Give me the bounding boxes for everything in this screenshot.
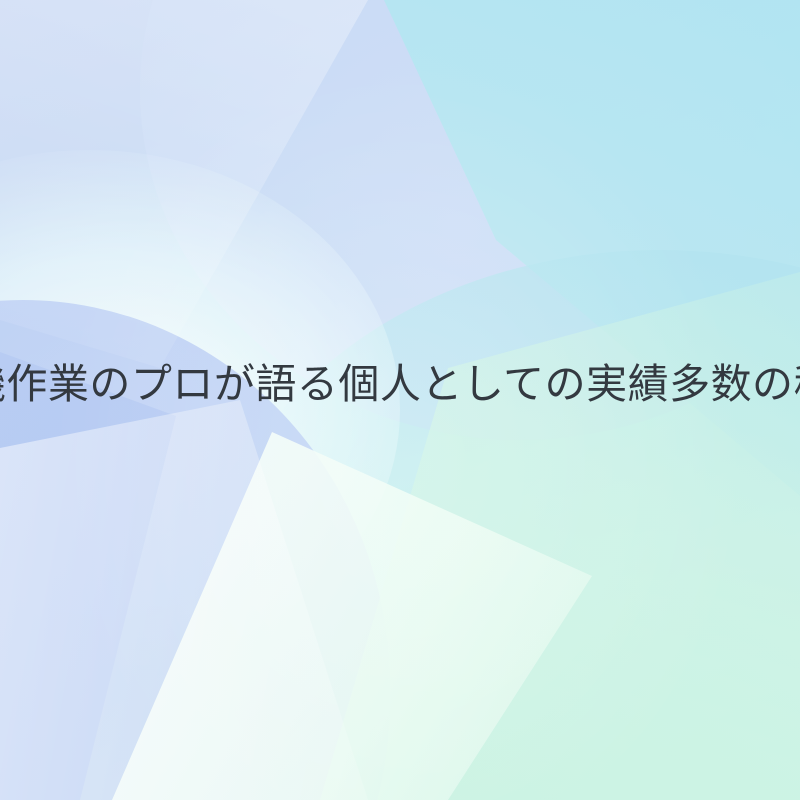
background-arc-sweep-right: [210, 250, 800, 800]
headline-band: 重機作業のプロが語る個人としての実績多数の秘訣: [0, 348, 800, 420]
title-card-canvas: 重機作業のプロが語る個人としての実績多数の秘訣: [0, 0, 800, 800]
page-title: 重機作業のプロが語る個人としての実績多数の秘訣: [0, 364, 800, 405]
